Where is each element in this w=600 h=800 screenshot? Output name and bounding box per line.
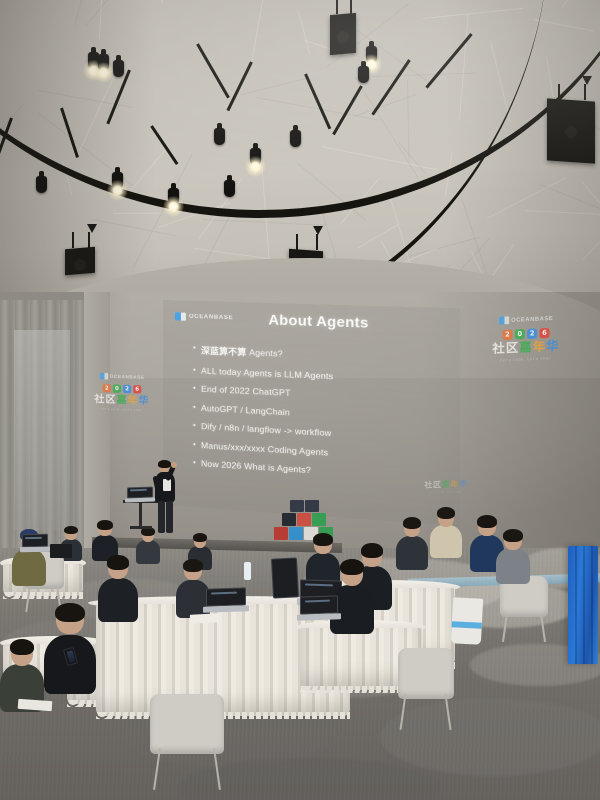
av-control-box: [50, 544, 72, 558]
laptop-screen: [127, 487, 153, 499]
bullet-marker-icon: •: [193, 343, 196, 352]
presenter-badge: [163, 479, 171, 491]
blue-draped-banner: [568, 546, 598, 664]
bullet-marker-icon: •: [193, 383, 196, 392]
event-title-char: 华: [546, 340, 559, 353]
person-torso: [12, 549, 46, 586]
event-title-char: 年: [128, 395, 139, 406]
oceanbase-mark-icon: [175, 312, 186, 320]
bullet-marker-icon: •: [193, 458, 196, 467]
event-year-digit: 2: [502, 330, 512, 341]
audience-person: [396, 518, 428, 570]
glass-door-panel: [14, 330, 70, 530]
audience-person: [430, 508, 462, 558]
audience-person: [98, 556, 138, 622]
event-year-digit: 2: [527, 328, 537, 339]
person-hair: [340, 559, 365, 575]
presenter-hair: [158, 460, 171, 468]
slide-bullet-item: •End of 2022 ChatGPT: [193, 383, 458, 405]
slide-title: About Agents: [268, 311, 368, 331]
event-title-cn: 社区嘉年华: [424, 480, 467, 489]
booth-cube: [289, 527, 303, 540]
laptop-stand-pole: [139, 503, 142, 527]
slide-bullet-text: ALL today Agents is LLM Agents: [201, 365, 333, 381]
event-year-digit: 6: [133, 385, 141, 394]
event-logo-left: OCEANBASE2026社区嘉年华Let's code, Let's chat…: [94, 373, 149, 413]
person-hair: [477, 515, 497, 528]
laptop-screen: [206, 587, 246, 606]
chair-back: [150, 694, 224, 754]
person-hair: [361, 543, 384, 558]
laptop-screen: [300, 595, 338, 614]
person-hair: [193, 533, 207, 542]
chair-leg: [213, 748, 221, 790]
person-torso: [430, 525, 462, 558]
event-year-digit: 0: [515, 329, 525, 340]
chair-leg: [502, 613, 508, 642]
person-hair: [313, 533, 333, 546]
booth-cube: [312, 513, 326, 526]
slide-bullet-item: •深蓝算不算 Agents?: [193, 343, 458, 367]
event-title-char: 年: [450, 480, 459, 488]
event-oceanbase-logo: OCEANBASE: [492, 314, 559, 325]
person-hair: [97, 520, 113, 530]
booth-cube: [305, 500, 319, 512]
slide-oceanbase-logo: OCEANBASE: [175, 312, 233, 322]
event-title-char: 社: [94, 394, 105, 405]
event-brand-text: OCEANBASE: [110, 374, 145, 381]
laptop: [300, 595, 338, 620]
presenter-leg: [166, 501, 173, 533]
slide-bullet-text-en: ALL today Agents is LLM Agents: [201, 365, 333, 381]
slide-bullet-text: End of 2022 ChatGPT: [201, 384, 291, 398]
paper-handout: [190, 613, 220, 624]
person-hair: [107, 555, 130, 570]
tote-bag: [451, 597, 483, 645]
bag-band: [452, 621, 482, 629]
chair-leg: [25, 586, 31, 612]
chair-leg: [153, 748, 161, 790]
chair-back: [398, 648, 454, 699]
oceanbase-mark-icon: [100, 373, 108, 380]
folding-chair: [398, 648, 454, 730]
event-year-digit: 6: [539, 328, 549, 339]
laptop-stand-base: [130, 526, 152, 529]
folding-chair: [500, 576, 548, 642]
water-bottle: [244, 562, 251, 580]
slide-bullet-list: •深蓝算不算 Agents?•ALL today Agents is LLM A…: [193, 343, 458, 493]
event-title-cn: 社区嘉年华: [492, 340, 559, 355]
presenter-hand: [171, 462, 177, 468]
person-hair: [10, 639, 35, 655]
event-logo-wall-faint: OCEANBASE2026社区嘉年华Let's code, Let's chat…: [424, 480, 467, 494]
laptop-screen: [22, 534, 48, 548]
person-torso: [98, 578, 138, 622]
bullet-marker-icon: •: [193, 365, 196, 374]
person-hair: [403, 517, 422, 529]
slide-bullet-text-cn: 深蓝算不算: [201, 346, 247, 358]
presenter: [152, 461, 180, 535]
table-sign-board: [271, 557, 299, 598]
event-title-char: 区: [506, 342, 519, 355]
event-title-cn: 社区嘉年华: [94, 394, 149, 406]
chair-leg: [400, 694, 407, 730]
slide-bullet-text: Manus/xxx/xxxx Coding Agents: [201, 440, 328, 458]
slide-bullet-text: 深蓝算不算 Agents?: [201, 343, 283, 359]
laptop: [22, 534, 48, 552]
projected-slide: OCEANBASE About Agents •深蓝算不算 Agents?•AL…: [163, 300, 460, 526]
event-title-char: 年: [533, 340, 546, 353]
laptop: [127, 487, 153, 503]
event-title-char: 嘉: [519, 341, 532, 354]
booth-cube: [274, 527, 288, 540]
chair-leg: [445, 694, 452, 730]
slide-bullet-text: AutoGPT / LangChain: [201, 402, 290, 417]
folding-chair: [150, 694, 224, 790]
booth-cube: [290, 500, 304, 512]
person-torso: [396, 536, 428, 570]
event-title-char: 华: [139, 395, 150, 406]
laptop: [206, 587, 246, 612]
event-title-char: 区: [433, 481, 442, 489]
person-hair: [183, 559, 203, 572]
person-hair: [437, 507, 456, 519]
person-hair: [55, 603, 84, 622]
event-year-digit: 2: [123, 385, 131, 394]
event-title-char: 嘉: [116, 395, 127, 406]
slide-bullet-item: •ALL today Agents is LLM Agents: [193, 365, 458, 386]
audience-person: [496, 530, 530, 584]
slide-bullet-text-en: AutoGPT / LangChain: [201, 402, 290, 417]
event-title-char: 社: [492, 342, 505, 355]
event-title-char: 区: [105, 394, 116, 405]
event-title-char: 嘉: [442, 480, 451, 488]
person-torso: [496, 548, 530, 584]
slide-bullet-text: Dify / n8n / langflow -> workflow: [201, 421, 331, 438]
bullet-marker-icon: •: [193, 402, 196, 411]
slide-bullet-text: Now 2026 What is Agents?: [201, 458, 311, 475]
event-year-digit: 0: [113, 384, 121, 393]
slide-bullet-text-en: Dify / n8n / langflow -> workflow: [201, 421, 331, 438]
slide-logo-text: OCEANBASE: [189, 314, 233, 321]
slide-bullet-text-en: Now 2026 What is Agents?: [201, 458, 311, 475]
conference-photo-scene: OCEANBASE About Agents •深蓝算不算 Agents?•AL…: [0, 0, 600, 800]
event-brand-text: OCEANBASE: [511, 315, 553, 324]
slide-bullet-text-en: Agents?: [246, 347, 282, 359]
slide-bullet-text-en: Manus/xxx/xxxx Coding Agents: [201, 440, 328, 458]
event-title-char: 社: [424, 481, 433, 489]
booth-cube: [282, 513, 296, 526]
oceanbase-mark-icon: [499, 316, 509, 324]
booth-cube: [297, 513, 311, 526]
event-year-digit: 2: [103, 384, 111, 393]
person-torso: [136, 540, 160, 564]
chair-leg: [540, 613, 546, 642]
laptop-base: [20, 547, 50, 552]
person-hair: [503, 529, 523, 542]
person-hair: [64, 526, 77, 534]
presenter-leg: [158, 501, 165, 533]
event-title-char: 华: [459, 480, 468, 488]
bullet-marker-icon: •: [193, 439, 196, 448]
slide-bullet-text-en: End of 2022 ChatGPT: [201, 384, 291, 398]
event-oceanbase-logo: OCEANBASE: [94, 373, 149, 381]
event-logo-right: OCEANBASE2026社区嘉年华Let's code, Let's chat…: [492, 314, 559, 363]
bullet-marker-icon: •: [193, 421, 196, 430]
